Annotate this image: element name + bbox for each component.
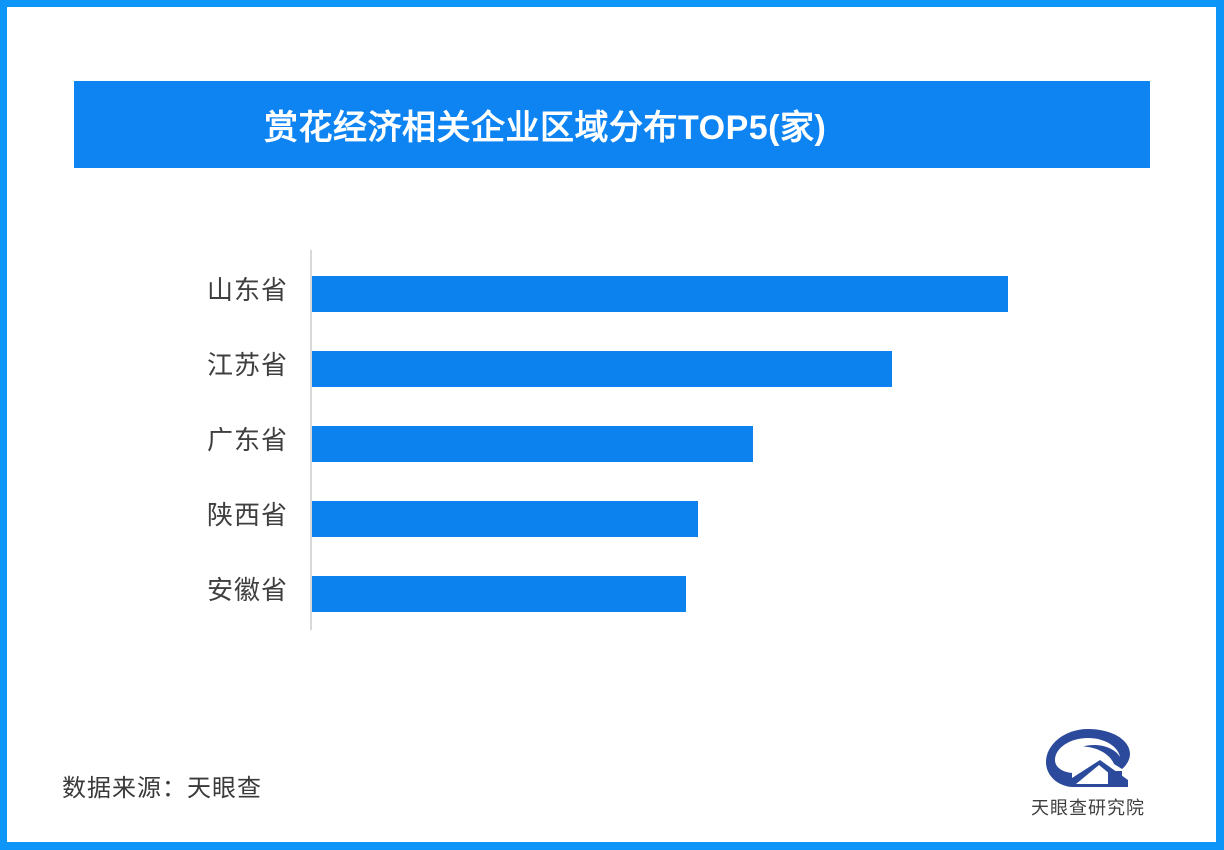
bar-chart: 山东省江苏省广东省陕西省安徽省: [0, 248, 1224, 638]
brand-logo: 天眼查研究院: [1008, 728, 1168, 832]
brand-logo-text: 天眼查研究院: [1031, 794, 1145, 820]
data-source-note: 数据来源：天眼查: [62, 768, 262, 803]
bar-category-label: 陕西省: [100, 495, 288, 532]
bar-category-label: 江苏省: [100, 345, 288, 382]
page-border-bottom: [0, 842, 1224, 850]
bar-rect: [312, 351, 892, 387]
page-title: 赏花经济相关企业区域分布TOP5(家): [264, 100, 826, 149]
title-banner: 赏花经济相关企业区域分布TOP5(家): [74, 81, 1150, 168]
page-border-top: [0, 0, 1224, 7]
bar-row: 安徽省: [0, 548, 1224, 623]
bar-category-label: 安徽省: [100, 570, 288, 607]
bar-rect: [312, 426, 753, 462]
bar-rect: [312, 576, 686, 612]
bar-rect: [312, 501, 698, 537]
bar-category-label: 广东省: [100, 420, 288, 457]
bar-rect: [312, 276, 1008, 312]
bar-row: 陕西省: [0, 473, 1224, 548]
tianyancha-eye-logo-icon: [1042, 728, 1134, 790]
bar-row: 江苏省: [0, 323, 1224, 398]
bar-row: 广东省: [0, 398, 1224, 473]
bar-row: 山东省: [0, 248, 1224, 323]
bar-category-label: 山东省: [100, 270, 288, 307]
infographic-page: 赏花经济相关企业区域分布TOP5(家) 山东省江苏省广东省陕西省安徽省 数据来源…: [0, 0, 1224, 850]
